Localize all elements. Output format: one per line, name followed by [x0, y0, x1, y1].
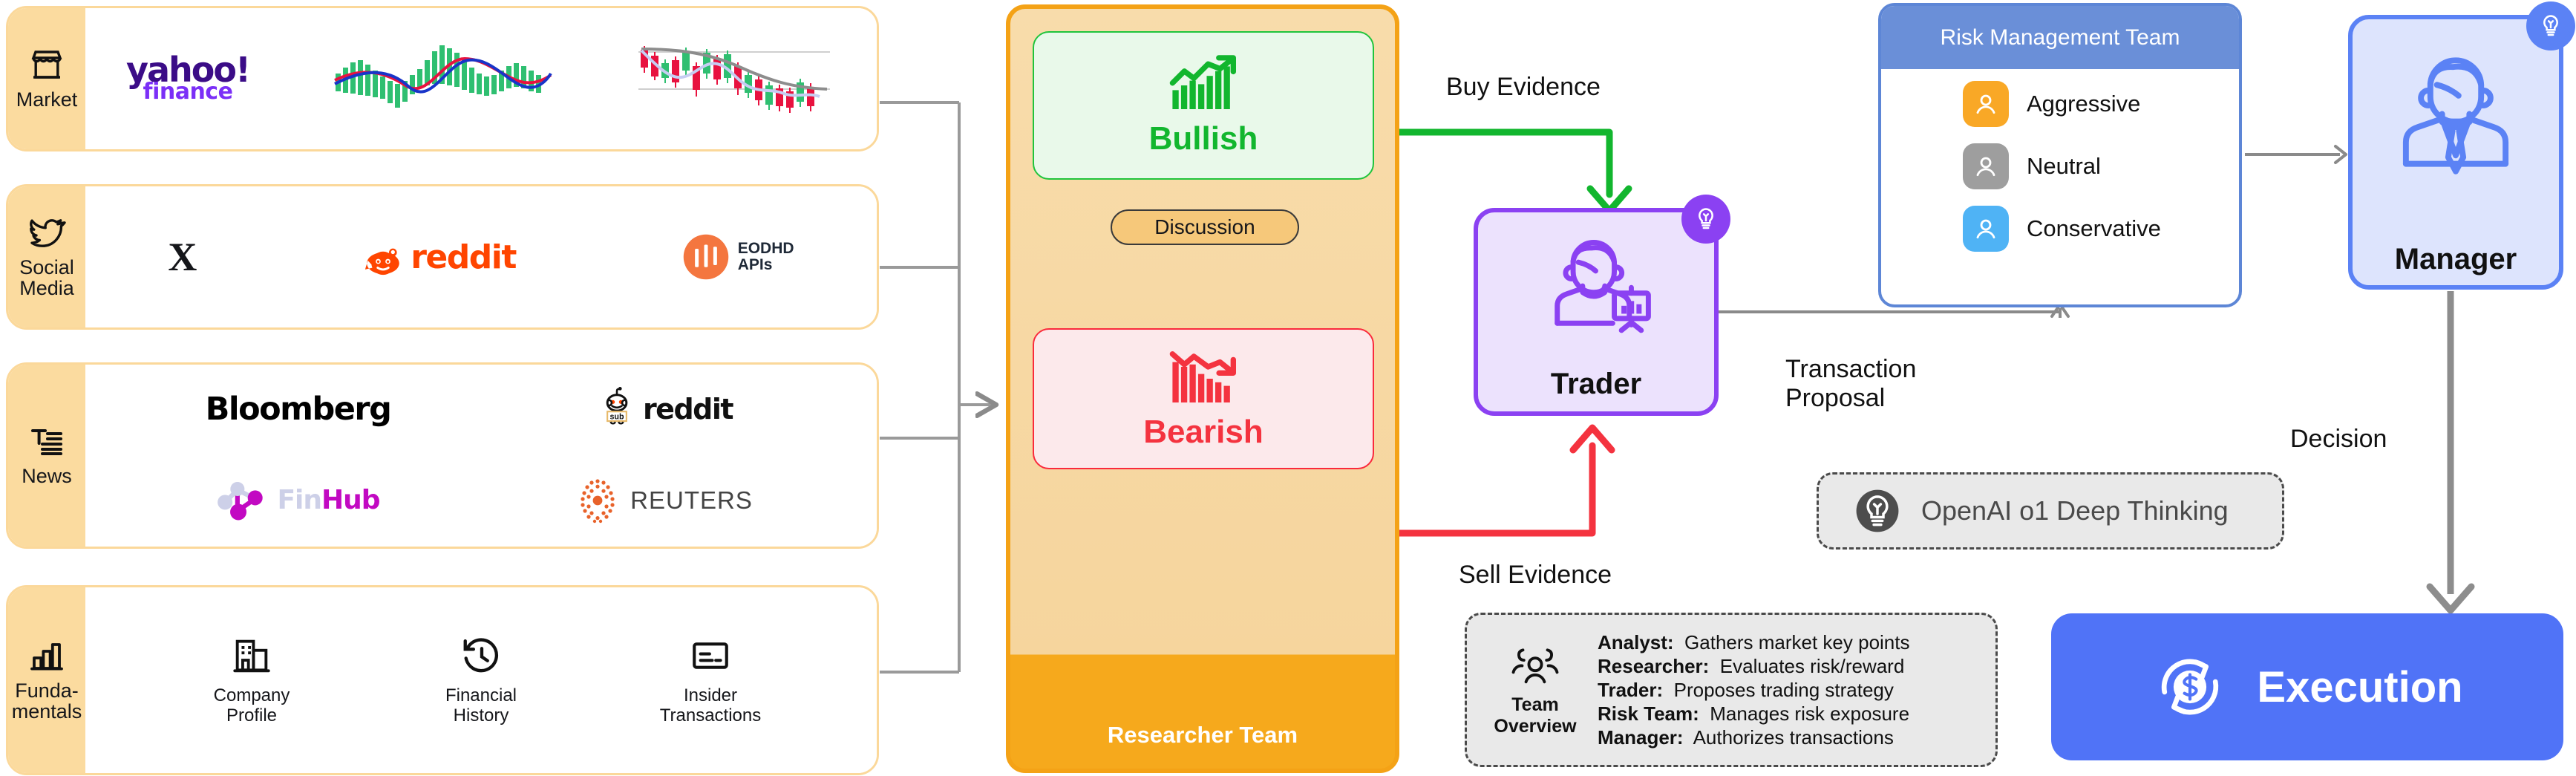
- insider-transactions-tile[interactable]: Insider Transactions: [647, 634, 774, 726]
- twitter-bird-icon: [27, 215, 67, 251]
- trending-up-bars-icon: [1168, 53, 1239, 117]
- manager-person-suit-icon: [2385, 34, 2526, 194]
- eodhd-apis-logo: EODHD APIs: [681, 232, 794, 281]
- risk-team-header: Risk Management Team: [1881, 6, 2239, 69]
- team-overview-left: Team Overview: [1483, 642, 1587, 737]
- edge-label-sell-evidence: Sell Evidence: [1459, 561, 1612, 590]
- eodhd-candle-badge-icon: [681, 232, 730, 281]
- company-profile-tile[interactable]: Company Profile: [189, 634, 315, 726]
- candlestick-chart: [635, 34, 836, 123]
- source-row-market[interactable]: Market yahoo! finance: [6, 6, 879, 151]
- volume-histogram-chart: [331, 38, 554, 120]
- source-body-news: Bloomberg sub reddit FinHub: [85, 365, 877, 547]
- subreddit-snoo-icon: sub: [595, 387, 638, 431]
- source-body-social: X reddit EODHD APIs: [85, 186, 877, 327]
- team-overview-row: Analyst: Gathers market key points: [1598, 631, 1910, 654]
- openai-label: OpenAI o1 Deep Thinking: [1921, 495, 2229, 526]
- execution-label: Execution: [2257, 662, 2462, 712]
- source-label-fundamentals: Funda- mentals: [12, 680, 82, 723]
- source-row-news[interactable]: News Bloomberg sub reddit: [6, 362, 879, 549]
- source-row-social[interactable]: Social Media X reddit EODHD APIs: [6, 184, 879, 330]
- bearish-label: Bearish: [1143, 414, 1263, 451]
- person-icon: [1963, 206, 2009, 252]
- discussion-label: Discussion: [1154, 215, 1255, 239]
- bearish-card[interactable]: Bearish: [1033, 328, 1374, 469]
- team-overview-row: Risk Team: Manages risk exposure: [1598, 702, 1910, 726]
- risk-management-team-panel[interactable]: Risk Management Team Aggressive Neutral …: [1878, 3, 2242, 307]
- team-overview-row: Manager: Authorizes transactions: [1598, 726, 1910, 749]
- source-label-social: Social Media: [19, 257, 74, 299]
- x-logo: X: [168, 234, 196, 280]
- bar-chart-icon: [27, 639, 67, 674]
- financial-history-tile[interactable]: Financial History: [418, 634, 544, 726]
- source-body-fundamentals: Company Profile Financial History Inside…: [85, 587, 877, 773]
- openai-deep-thinking-box[interactable]: OpenAI o1 Deep Thinking: [1817, 472, 2284, 550]
- edge-label-buy-evidence: Buy Evidence: [1446, 73, 1601, 102]
- source-label-news: News: [22, 466, 72, 486]
- source-body-market: yahoo! finance: [85, 8, 877, 149]
- history-clock-icon: [460, 634, 503, 677]
- researcher-team-footer: Researcher Team: [1010, 702, 1395, 769]
- edge-label-transaction-proposal: Transaction Proposal: [1785, 355, 1916, 414]
- manager-card[interactable]: Manager: [2348, 15, 2563, 290]
- id-card-icon: [689, 634, 732, 677]
- reuters-logo: REUTERS: [575, 477, 753, 524]
- lightbulb-icon: [1854, 488, 1900, 534]
- subreddit-logo: sub reddit: [595, 387, 733, 431]
- finnhub-logo: FinHub: [216, 477, 379, 524]
- source-tag-social: Social Media: [8, 186, 85, 327]
- source-tag-news: News: [8, 365, 85, 547]
- source-tag-fundamentals: Funda- mentals: [8, 587, 85, 773]
- source-row-fundamentals[interactable]: Funda- mentals Company Profile Financial…: [6, 585, 879, 775]
- team-overview-box[interactable]: Team Overview Analyst: Gathers market ke…: [1465, 613, 1998, 767]
- discussion-pill[interactable]: Discussion: [1111, 209, 1299, 245]
- trader-label: Trader: [1551, 368, 1641, 401]
- risk-member-label: Neutral: [2027, 153, 2101, 180]
- reddit-logo: reddit: [362, 235, 516, 278]
- finnhub-nodes-icon: [216, 477, 269, 524]
- dollar-refresh-icon: [2151, 648, 2229, 726]
- risk-team-member-list: Aggressive Neutral Conservative: [1881, 69, 2239, 252]
- reuters-dots-icon: [575, 477, 620, 524]
- trader-person-presentation-icon: [1537, 229, 1655, 340]
- team-overview-title: Team Overview: [1494, 694, 1576, 737]
- storefront-icon: [27, 48, 67, 83]
- team-overview-row: Researcher: Evaluates risk/reward: [1598, 655, 1910, 678]
- lightbulb-icon: [1692, 205, 1720, 233]
- team-overview-row: Trader: Proposes trading strategy: [1598, 679, 1910, 702]
- trader-card[interactable]: Trader: [1474, 208, 1719, 416]
- bloomberg-logo: Bloomberg: [206, 391, 391, 428]
- trader-deep-thinking-badge[interactable]: [1681, 195, 1730, 244]
- edge-label-decision: Decision: [2290, 425, 2387, 454]
- risk-member-neutral[interactable]: Neutral: [1963, 143, 2239, 189]
- researcher-team-panel[interactable]: Bullish Discussion Bearish Researcher Te…: [1006, 4, 1399, 773]
- bullish-card[interactable]: Bullish: [1033, 31, 1374, 180]
- person-icon: [1963, 143, 2009, 189]
- execution-card[interactable]: Execution: [2051, 613, 2563, 760]
- team-overview-rows: Analyst: Gathers market key points Resea…: [1598, 631, 1910, 749]
- risk-member-label: Aggressive: [2027, 91, 2140, 117]
- bullish-label: Bullish: [1149, 120, 1258, 157]
- office-building-icon: [230, 634, 273, 677]
- article-icon: [27, 424, 67, 460]
- risk-member-aggressive[interactable]: Aggressive: [1963, 81, 2239, 127]
- yahoo-finance-logo: yahoo! finance: [126, 56, 249, 101]
- researcher-team-title: Researcher Team: [1108, 722, 1298, 749]
- manager-deep-thinking-badge[interactable]: [2526, 1, 2575, 50]
- person-icon: [1963, 81, 2009, 127]
- reddit-alien-icon: [362, 235, 405, 278]
- group-people-icon: [1509, 642, 1561, 688]
- manager-label: Manager: [2395, 243, 2517, 276]
- svg-text:sub: sub: [609, 413, 624, 422]
- risk-team-title: Risk Management Team: [1941, 25, 2180, 50]
- source-label-market: Market: [16, 89, 78, 110]
- risk-member-conservative[interactable]: Conservative: [1963, 206, 2239, 252]
- source-tag-market: Market: [8, 8, 85, 149]
- lightbulb-icon: [2537, 12, 2565, 40]
- trending-down-bars-icon: [1168, 347, 1239, 411]
- risk-member-label: Conservative: [2027, 215, 2161, 242]
